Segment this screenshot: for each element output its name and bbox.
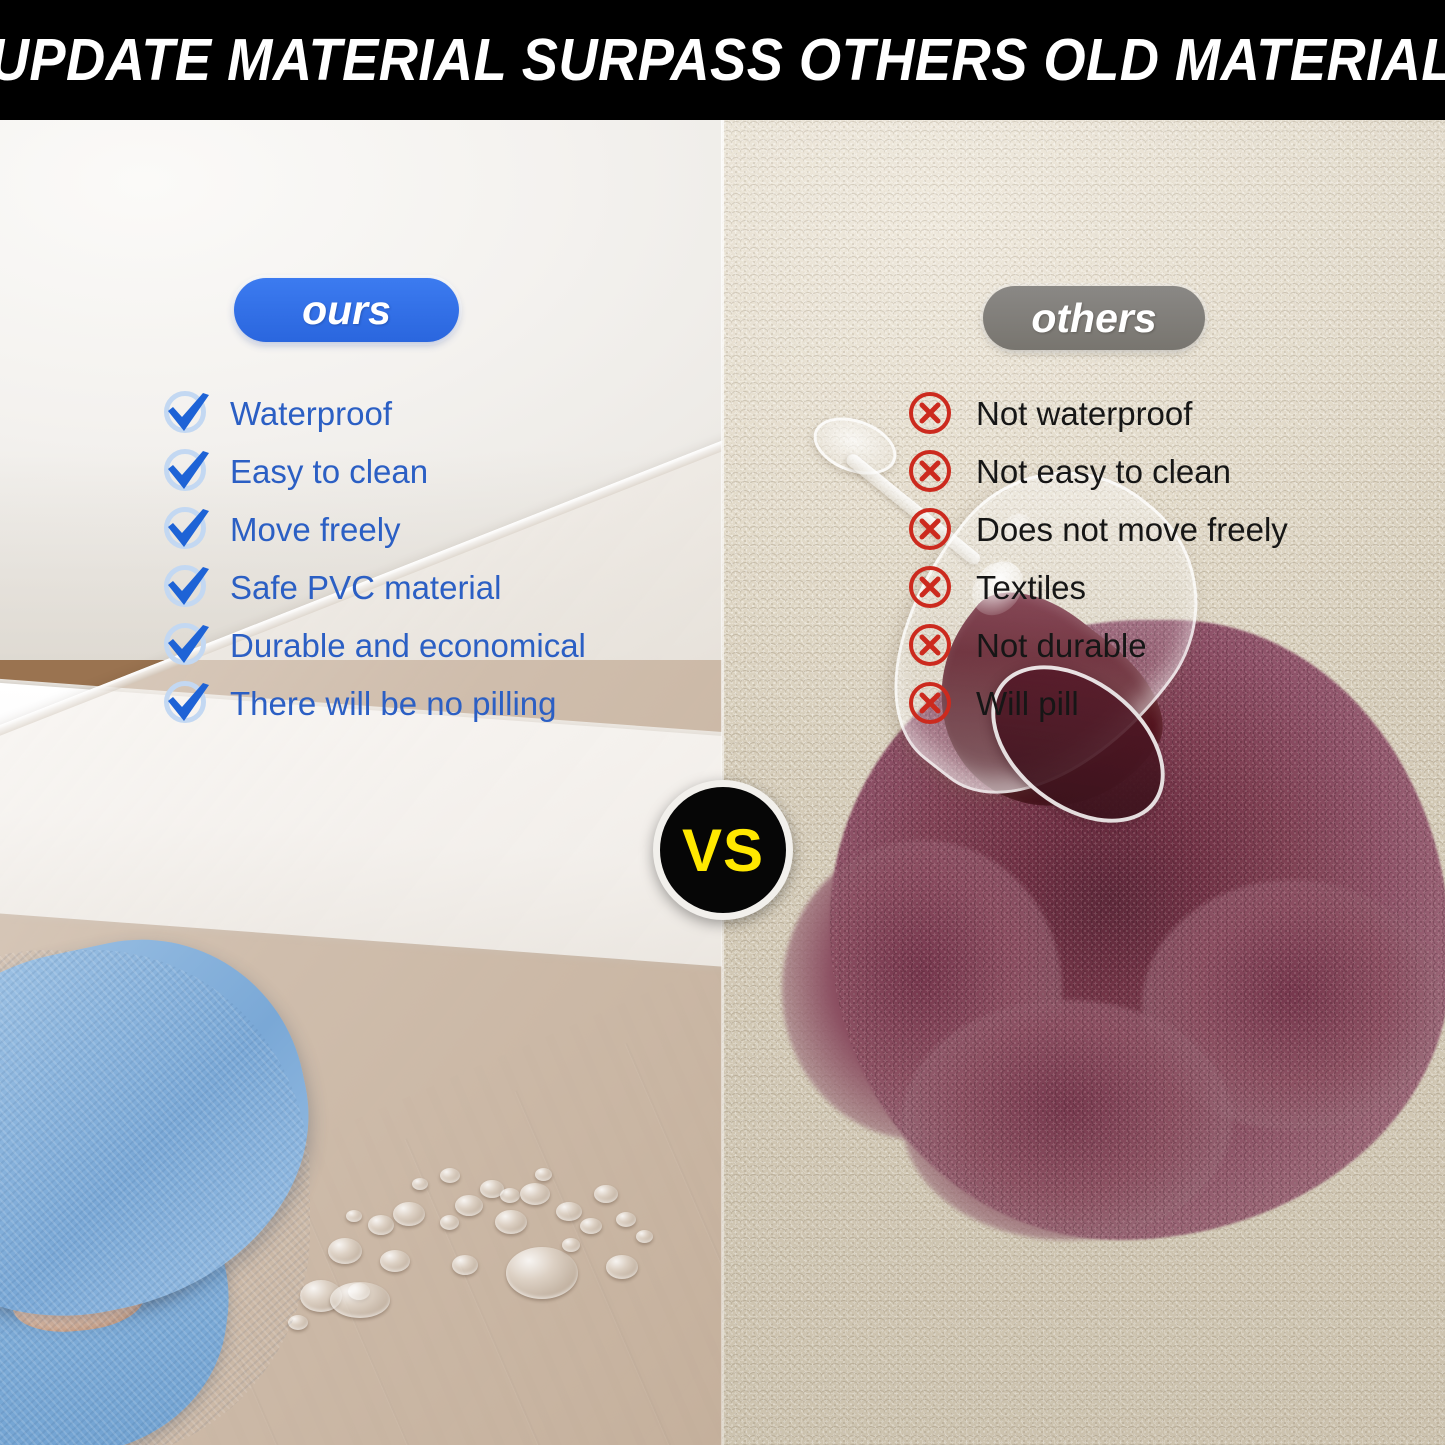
feature-label: Textiles [960, 571, 1086, 604]
ours-badge: ours [234, 278, 459, 342]
water-droplet [346, 1210, 362, 1222]
others-badge-label: others [1031, 295, 1156, 342]
vs-badge: VS [653, 780, 793, 920]
water-droplet [440, 1215, 459, 1230]
ours-feature-list: Waterproof Easy to clean [156, 384, 676, 732]
water-droplet [368, 1215, 394, 1235]
feature-label: Durable and economical [216, 629, 586, 662]
check-circle-icon [156, 679, 216, 727]
list-item: Waterproof [156, 384, 676, 442]
list-item: Not durable [900, 616, 1370, 674]
water-droplet [636, 1230, 653, 1243]
feature-label: Will pill [960, 687, 1079, 720]
feature-label: Easy to clean [216, 455, 428, 488]
list-item: Will pill [900, 674, 1370, 732]
feature-label: Does not move freely [960, 513, 1288, 546]
header-bar: UPDATE MATERIAL SURPASS OTHERS OLD MATER… [0, 0, 1445, 120]
water-droplet [455, 1195, 483, 1216]
water-droplet [520, 1183, 550, 1205]
water-droplet [562, 1238, 580, 1252]
list-item: Not easy to clean [900, 442, 1370, 500]
feature-label: Waterproof [216, 397, 392, 430]
water-droplet [380, 1250, 410, 1272]
water-droplet [606, 1255, 638, 1279]
water-droplet [535, 1168, 552, 1181]
x-circle-icon [900, 390, 960, 436]
vs-label: VS [682, 816, 764, 885]
x-circle-icon [900, 622, 960, 668]
page-title: UPDATE MATERIAL SURPASS OTHERS OLD MATER… [0, 26, 1445, 94]
water-droplet [330, 1282, 390, 1318]
water-droplet [616, 1212, 636, 1227]
water-droplet [440, 1168, 460, 1183]
feature-label: There will be no pilling [216, 687, 557, 720]
water-droplet [556, 1202, 582, 1221]
water-droplet [580, 1218, 602, 1234]
list-item: Not waterproof [900, 384, 1370, 442]
check-circle-icon [156, 389, 216, 437]
x-circle-icon [900, 680, 960, 726]
list-item: Easy to clean [156, 442, 676, 500]
list-item: Safe PVC material [156, 558, 676, 616]
check-circle-icon [156, 505, 216, 553]
water-droplet [412, 1178, 428, 1190]
water-droplet [393, 1202, 425, 1226]
list-item: Does not move freely [900, 500, 1370, 558]
x-circle-icon [900, 564, 960, 610]
check-circle-icon [156, 447, 216, 495]
feature-label: Not easy to clean [960, 455, 1231, 488]
others-feature-list: Not waterproof Not easy to clean Does no… [900, 384, 1370, 732]
feature-label: Not durable [960, 629, 1147, 662]
water-droplet [594, 1185, 618, 1203]
list-item: There will be no pilling [156, 674, 676, 732]
feature-label: Not waterproof [960, 397, 1192, 430]
ours-badge-label: ours [302, 287, 391, 334]
x-circle-icon [900, 448, 960, 494]
list-item: Durable and economical [156, 616, 676, 674]
others-badge: others [983, 286, 1205, 350]
feature-label: Move freely [216, 513, 401, 546]
water-droplet [328, 1238, 362, 1264]
water-droplet [452, 1255, 478, 1275]
water-droplet [506, 1247, 578, 1299]
list-item: Textiles [900, 558, 1370, 616]
check-circle-icon [156, 563, 216, 611]
check-circle-icon [156, 621, 216, 669]
feature-label: Safe PVC material [216, 571, 501, 604]
list-item: Move freely [156, 500, 676, 558]
x-circle-icon [900, 506, 960, 552]
water-droplet [500, 1188, 520, 1203]
comparison-stage: ours others Waterproof [0, 120, 1445, 1445]
water-droplet [495, 1210, 527, 1234]
